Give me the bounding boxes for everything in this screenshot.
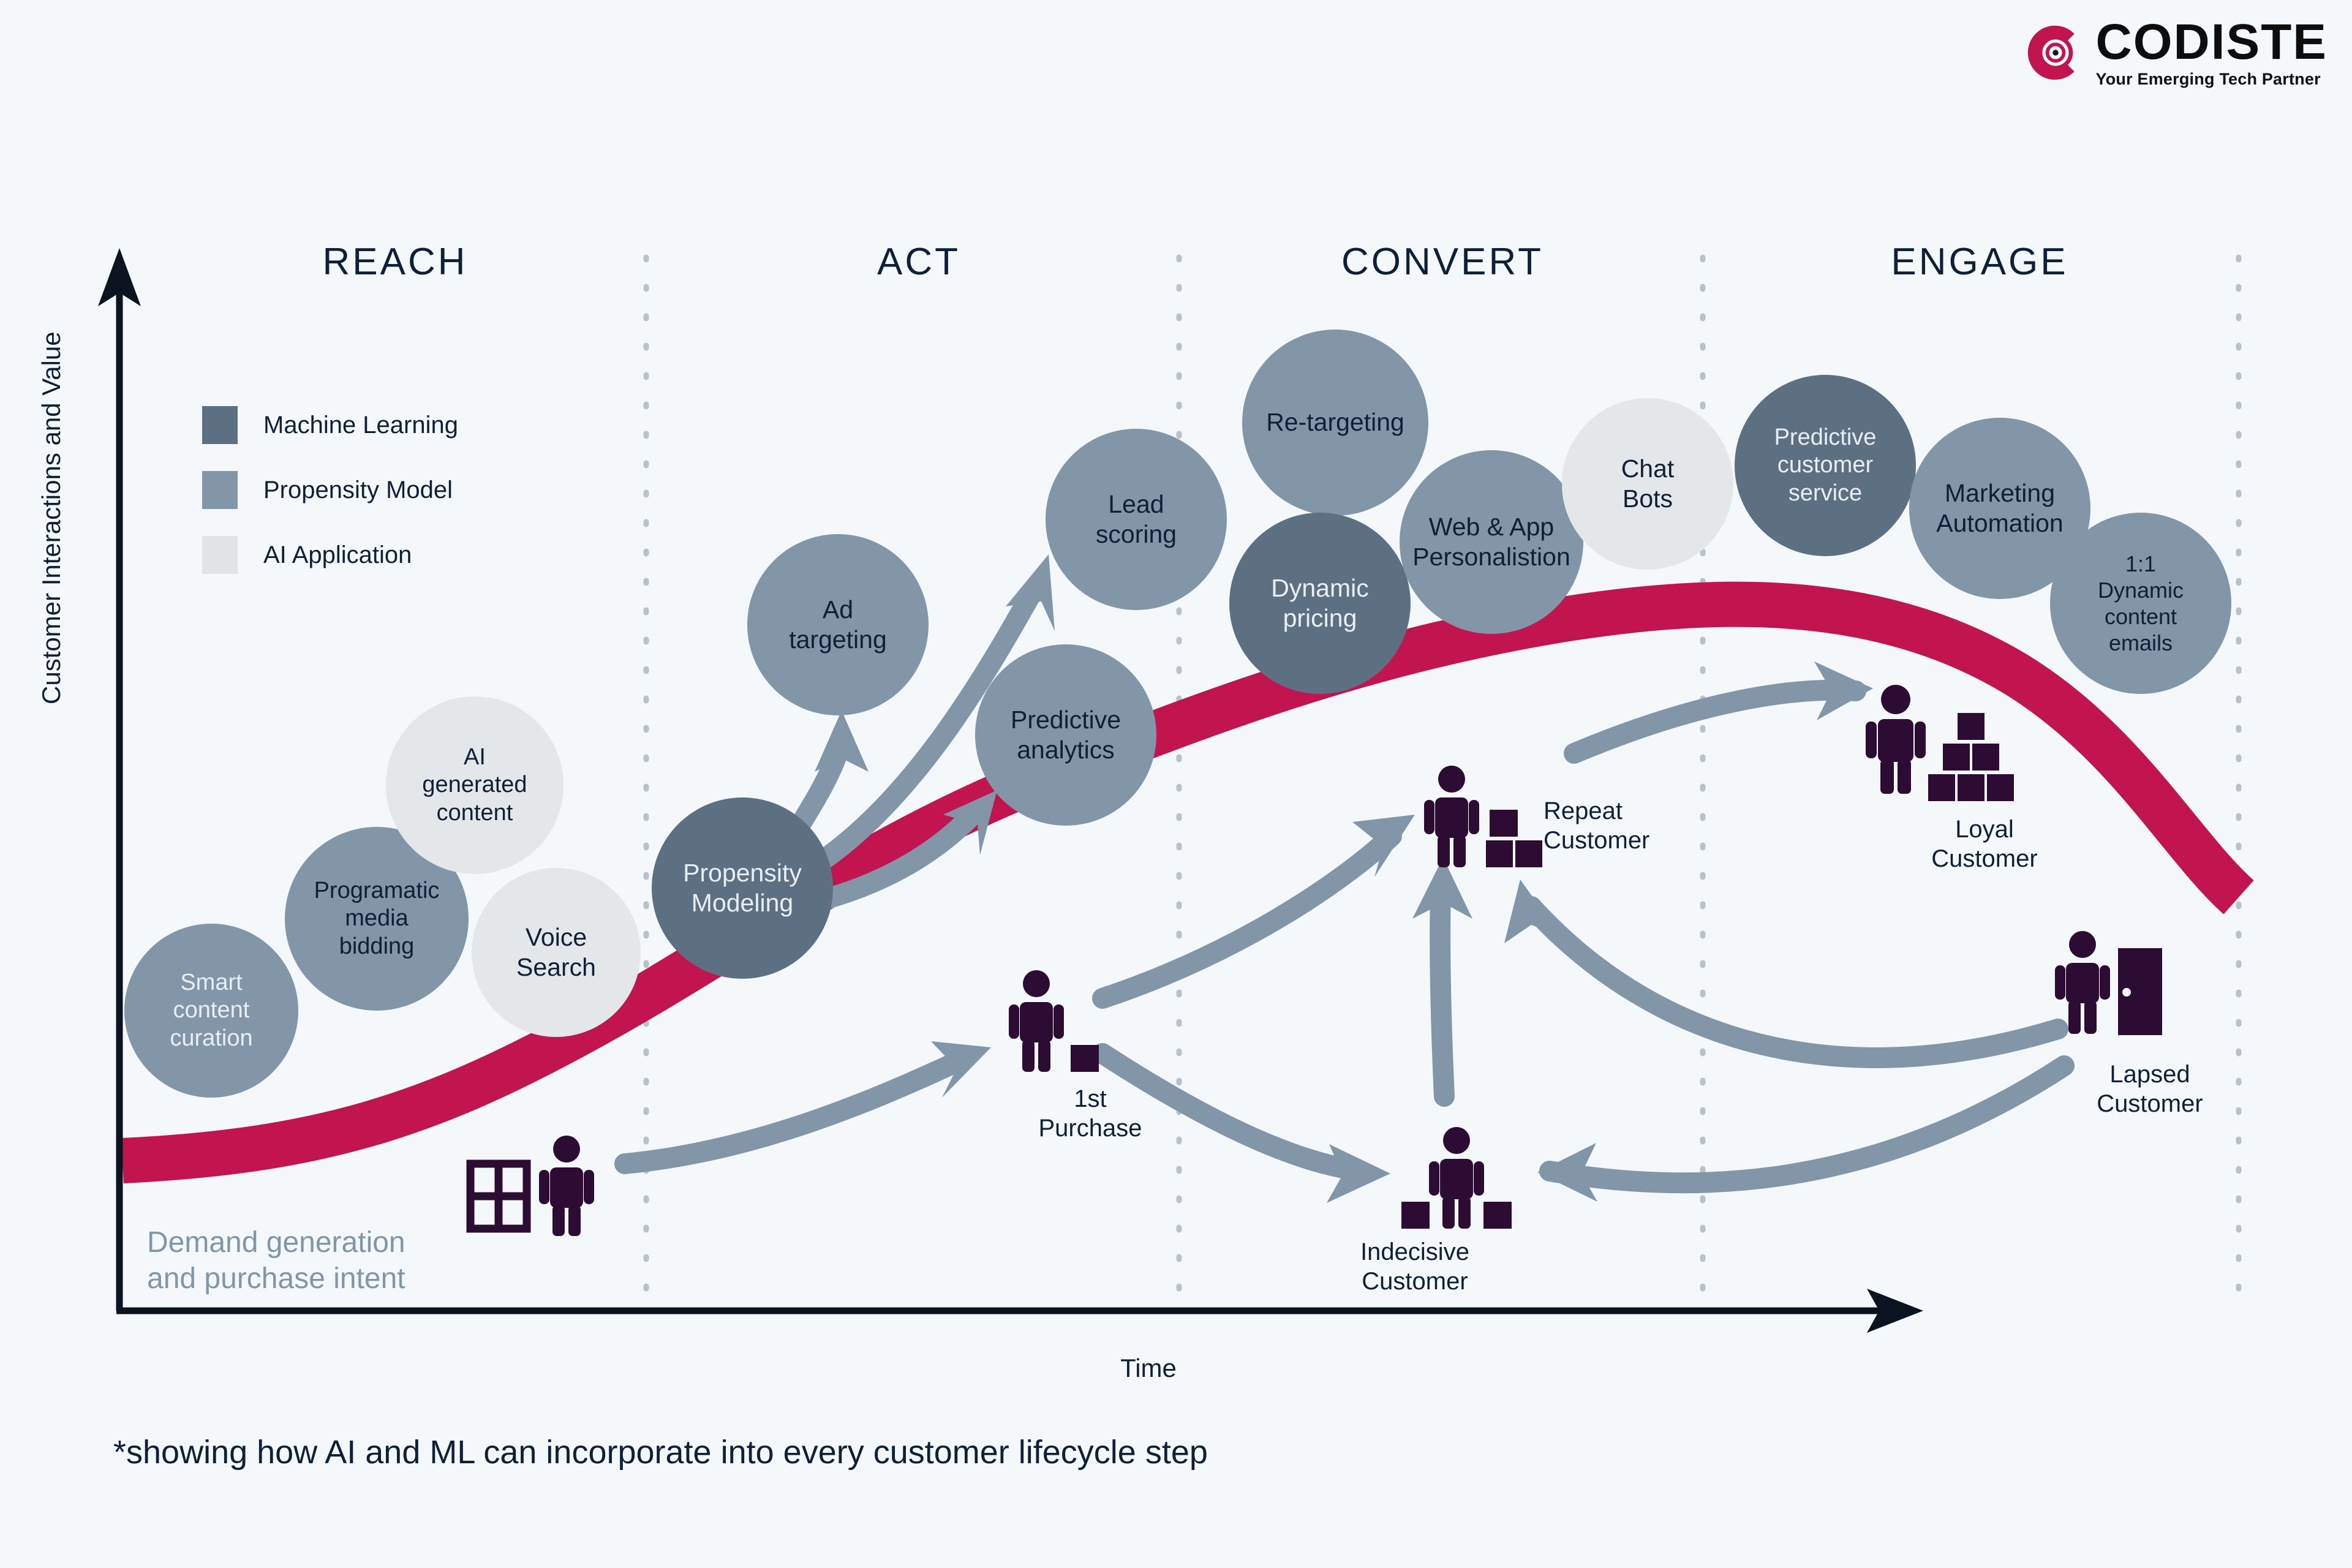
arrow-repeat-to-loyal: [1574, 690, 1856, 753]
legend-item: Machine Learning: [202, 401, 458, 449]
person-door-icon: [2055, 931, 2162, 1035]
persona-label-lapsed-customer: Lapsed Customer: [2040, 1060, 2260, 1118]
person-box-2-icon: [1401, 1127, 1512, 1229]
logo-tagline: Your Emerging Tech Partner: [2096, 71, 2321, 88]
phase-header-convert: CONVERT: [1341, 240, 1543, 284]
legend-item: AI Application: [202, 531, 458, 579]
bubble-smart-content-curation[interactable]: Smart content curation: [124, 924, 298, 1098]
person-box-1-icon: [1009, 970, 1099, 1072]
y-axis-label: Customer Interactions and Value: [37, 331, 66, 704]
legend-item: Propensity Model: [202, 466, 458, 514]
demand-generation-note: Demand generation and purchase intent: [147, 1225, 405, 1297]
logo-wordmark: CODISTE: [2096, 17, 2327, 67]
phase-header-reach: REACH: [322, 240, 467, 284]
x-axis-label: Time: [1120, 1354, 1177, 1383]
arrow-indecisive-to-repeat: [1440, 889, 1444, 1096]
bubble-predictive-customer-service[interactable]: Predictive customer service: [1735, 375, 1916, 556]
persona-label-repeat-customer: Repeat Customer: [1543, 796, 1801, 855]
arrow-lapsed-to-repeat: [1531, 907, 2058, 1058]
persona-label-1st-purchase: 1st Purchase: [980, 1084, 1200, 1143]
bubble-dynamic-pricing[interactable]: Dynamic pricing: [1229, 513, 1411, 694]
persona-label-indecisive-customer: Indecisive Customer: [1305, 1237, 1525, 1296]
bubble-re-targeting[interactable]: Re-targeting: [1242, 330, 1428, 516]
legend-swatch-machine-learning: [202, 406, 238, 444]
legend: Machine Learning Propensity Model AI App…: [202, 401, 458, 596]
arrow-shopper-to-first-purchase: [625, 1060, 962, 1164]
diagram-svg: [0, 0, 2352, 1568]
bubble-ai-generated-content[interactable]: AI generated content: [386, 696, 563, 874]
bubble-ad-targeting[interactable]: Ad targeting: [747, 534, 929, 715]
brand-logo: CODISTE Your Emerging Tech Partner: [2026, 17, 2327, 88]
bubble-web-app-personalistion[interactable]: Web & App Personalistion: [1400, 450, 1583, 634]
legend-label-propensity-model: Propensity Model: [263, 477, 453, 504]
codiste-logo-icon: [2026, 23, 2085, 82]
legend-swatch-propensity-model: [202, 471, 238, 509]
bubble-lead-scoring[interactable]: Lead scoring: [1046, 429, 1227, 610]
person-box-3-icon: [1424, 766, 1542, 867]
arrow-first-purchase-to-repeat: [1102, 836, 1392, 998]
bubble-voice-search[interactable]: Voice Search: [472, 868, 641, 1037]
shopper-window-icon: [470, 1136, 594, 1236]
bubble-1-1-dynamic-content-emails[interactable]: 1:1 Dynamic content emails: [2050, 513, 2231, 694]
bubble-chat-bots[interactable]: Chat Bots: [1562, 398, 1733, 570]
legend-swatch-ai-application: [202, 536, 238, 574]
bubble-predictive-analytics[interactable]: Predictive analytics: [975, 644, 1156, 826]
arrow-lapsed-to-indecisive: [1550, 1066, 2064, 1183]
legend-label-ai-application: AI Application: [263, 541, 412, 569]
infographic-canvas: CODISTE Your Emerging Tech Partner REACH…: [0, 0, 2352, 1568]
footnote-caption: *showing how AI and ML can incorporate i…: [113, 1433, 1208, 1471]
phase-header-act: ACT: [877, 240, 960, 284]
person-box-6-icon: [1866, 685, 2014, 801]
legend-label-machine-learning: Machine Learning: [263, 412, 458, 439]
bubble-propensity-modeling[interactable]: Propensity Modeling: [652, 797, 833, 979]
phase-header-engage: ENGAGE: [1891, 240, 2068, 284]
persona-label-loyal-customer: Loyal Customer: [1874, 815, 2095, 873]
